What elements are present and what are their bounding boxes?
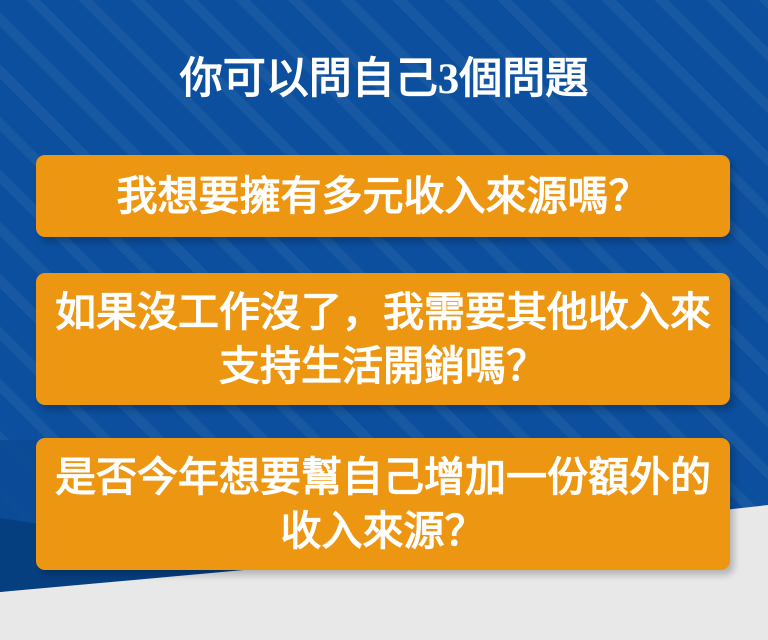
question-card-1: 我想要擁有多元收入來源嗎？ <box>36 155 730 237</box>
question-card-2: 如果沒工作沒了，我需要其他收入來支持生活開銷嗎？ <box>36 273 730 405</box>
question-card-2-text: 如果沒工作沒了，我需要其他收入來支持生活開銷嗎？ <box>50 285 716 393</box>
poster-canvas: 你可以問自己3個問題 我想要擁有多元收入來源嗎？ 如果沒工作沒了，我需要其他收入… <box>0 0 768 640</box>
question-card-1-text: 我想要擁有多元收入來源嗎？ <box>50 169 716 223</box>
question-card-3: 是否今年想要幫自己增加一份額外的收入來源？ <box>36 438 730 570</box>
question-card-3-text: 是否今年想要幫自己增加一份額外的收入來源？ <box>50 450 716 558</box>
page-title: 你可以問自己3個問題 <box>0 56 768 103</box>
